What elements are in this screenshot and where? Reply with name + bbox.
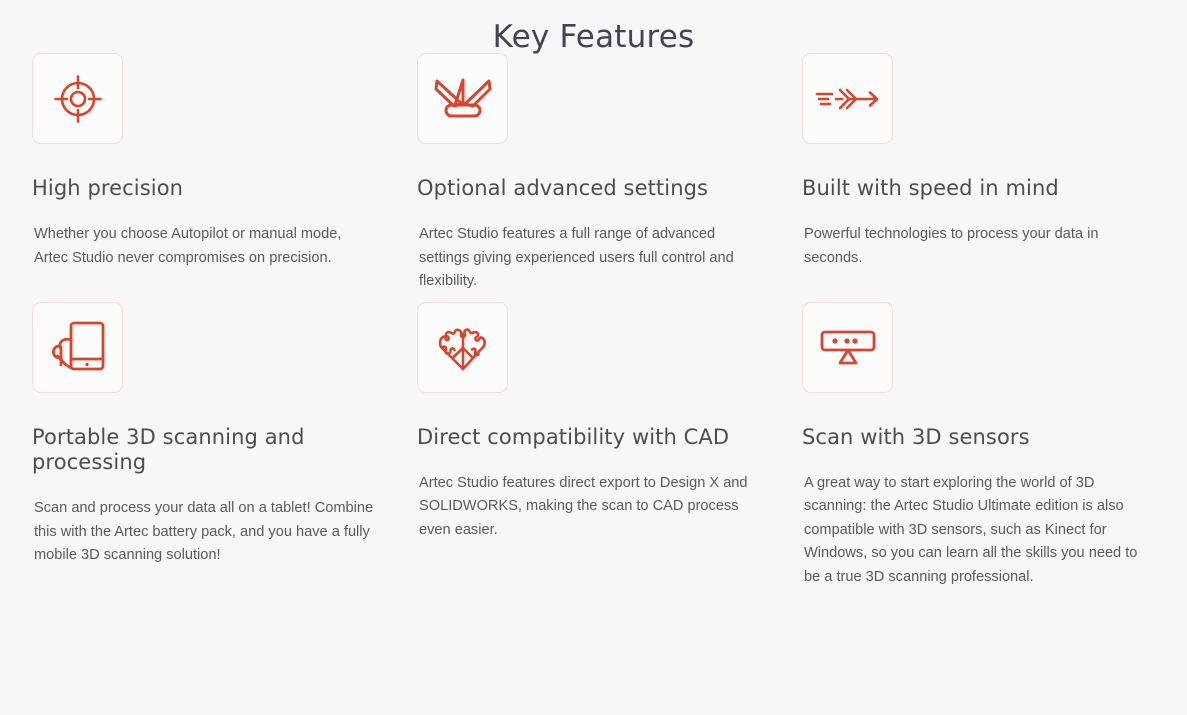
puzzle-heart-icon [417, 302, 508, 393]
feature-description: Artec Studio features a full range of ad… [419, 223, 762, 294]
feature-title: Optional advanced settings [417, 176, 762, 201]
feature-title: High precision [32, 176, 377, 201]
feature-title: Direct compatibility with CAD [417, 425, 762, 450]
key-features-section: Key Features High precision Whether you … [0, 0, 1187, 715]
features-grid-row-2: Portable 3D scanning and processing Scan… [0, 294, 1187, 590]
speed-arrow-icon [802, 53, 893, 144]
feature-card-high-precision: High precision Whether you choose Autopi… [32, 53, 417, 294]
features-grid-row-1: High precision Whether you choose Autopi… [0, 53, 1187, 294]
feature-description: Powerful technologies to process your da… [804, 223, 1147, 270]
3d-sensor-bar-icon [802, 302, 893, 393]
feature-title: Scan with 3D sensors [802, 425, 1147, 450]
feature-card-cad-compatibility: Direct compatibility with CAD Artec Stud… [417, 302, 802, 590]
feature-card-advanced-settings: Optional advanced settings Artec Studio … [417, 53, 802, 294]
feature-description: A great way to start exploring the world… [804, 472, 1147, 590]
feature-description: Scan and process your data all on a tabl… [34, 497, 377, 568]
crosshair-target-icon [32, 53, 123, 144]
feature-card-portable-scanning: Portable 3D scanning and processing Scan… [32, 302, 417, 590]
feature-description: Whether you choose Autopilot or manual m… [34, 223, 377, 270]
feature-title: Built with speed in mind [802, 176, 1147, 201]
hand-holding-tablet-icon [32, 302, 123, 393]
feature-title: Portable 3D scanning and processing [32, 425, 377, 475]
feature-card-3d-sensors: Scan with 3D sensors A great way to star… [802, 302, 1187, 590]
feature-card-speed: Built with speed in mind Powerful techno… [802, 53, 1187, 294]
feature-description: Artec Studio features direct export to D… [419, 472, 762, 543]
swiss-army-knife-icon [417, 53, 508, 144]
page-title: Key Features [0, 0, 1187, 53]
